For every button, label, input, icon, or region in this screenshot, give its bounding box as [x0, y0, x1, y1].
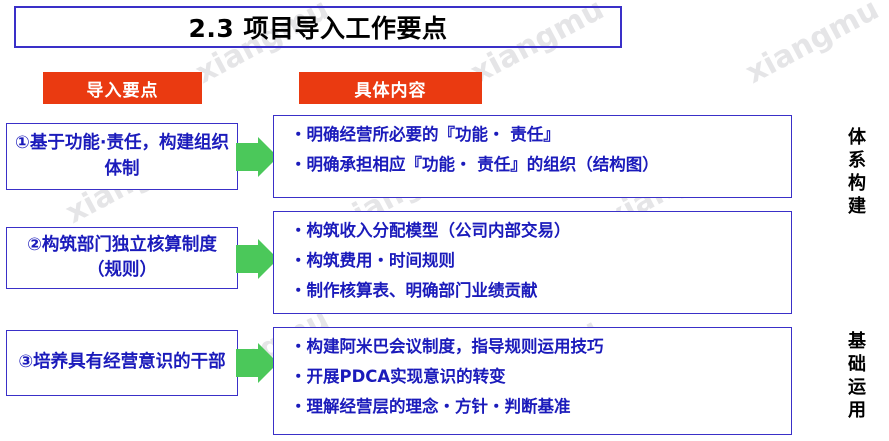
left-item-2: ②构筑部门独立核算制度（规则） [6, 227, 238, 289]
bullet-item: ・构筑费用・时间规则 [290, 252, 775, 270]
right-content-3: ・构建阿米巴会议制度，指导规则运用技巧 ・开展PDCA实现意识的转变 ・理解经营… [273, 327, 792, 435]
bullet-item: ・开展PDCA实现意识的转变 [290, 368, 775, 386]
bullet-item: ・明确经营所必要的『功能・ 责任』 [290, 126, 775, 144]
left-item-1: ①基于功能·责任，构建组织体制 [6, 123, 238, 190]
right-arrow-icon [236, 343, 278, 383]
bullet-item: ・理解经营层的理念・方针・判断基准 [290, 398, 775, 416]
slide-canvas: xiangmu xiangmu xiangmu xiangmu xiangmu … [0, 0, 889, 441]
bullet-item: ・构筑收入分配模型（公司内部交易） [290, 222, 775, 240]
slide-title-box: 2.3 项目导入工作要点 [14, 6, 622, 48]
left-item-3: ③培养具有经营意识的干部 [6, 330, 238, 396]
column-header-details: 具体内容 [299, 72, 482, 104]
bullet-item: ・构建阿米巴会议制度，指导规则运用技巧 [290, 338, 775, 356]
right-content-1: ・明确经营所必要的『功能・ 责任』 ・明确承担相应『功能・ 责任』的组织（结构图… [273, 115, 792, 198]
bullet-item: ・明确承担相应『功能・ 责任』的组织（结构图） [290, 156, 775, 174]
right-arrow-icon [236, 137, 278, 177]
right-arrow-icon [236, 239, 278, 279]
column-header-key-points: 导入要点 [43, 72, 202, 104]
side-label-top: 体系构建 [845, 126, 869, 218]
watermark: xiangmu [740, 0, 885, 91]
page-title: 2.3 项目导入工作要点 [189, 9, 448, 45]
side-label-bottom: 基础运用 [845, 330, 869, 422]
bullet-item: ・制作核算表、明确部门业绩贡献 [290, 282, 775, 300]
right-content-2: ・构筑收入分配模型（公司内部交易） ・构筑费用・时间规则 ・制作核算表、明确部门… [273, 211, 792, 314]
